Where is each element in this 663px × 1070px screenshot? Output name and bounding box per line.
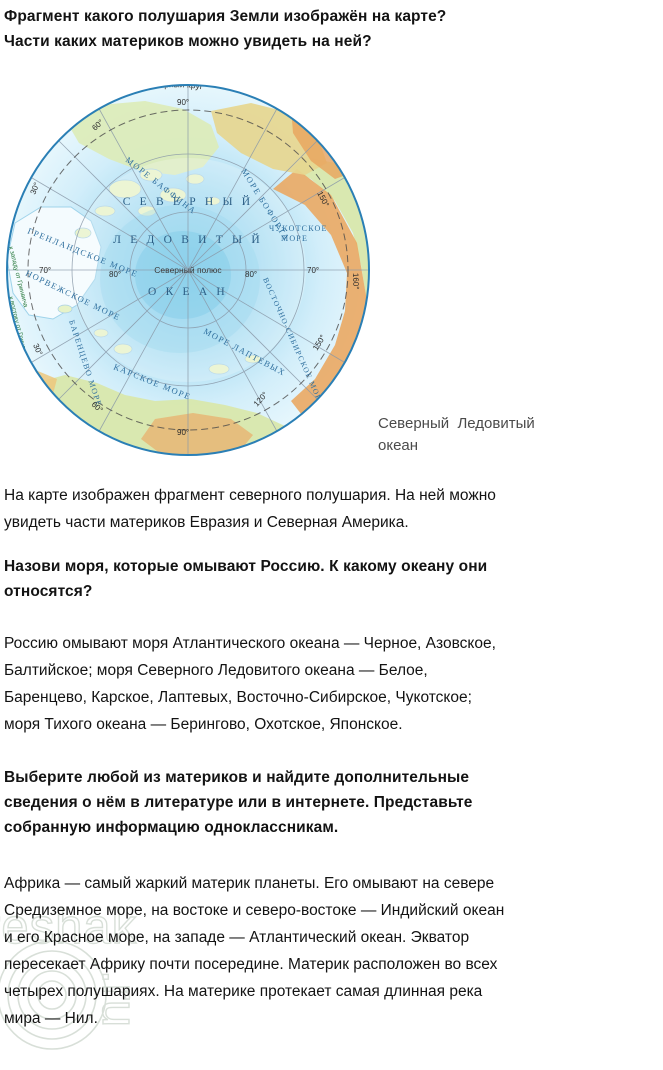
map-caption: Северный Ледовитый океан: [378, 413, 618, 457]
meridian-90-bottom: 90°: [177, 428, 189, 437]
ocean-name-line-3: О К Е А Н: [148, 286, 228, 298]
a1-line-1: На карте изображен фрагмент северного по…: [4, 482, 659, 509]
question-heading-3: Выберите любой из материков и найдите до…: [4, 765, 659, 840]
a3-line-2: Средиземное море, на востоке и северо-во…: [4, 897, 659, 924]
a3-line-6: мира — Нил.: [4, 1005, 659, 1032]
question-heading-1: Фрагмент какого полушария Земли изображё…: [4, 4, 659, 54]
a2-line-2: Балтийское; моря Северного Ледовитого ок…: [4, 657, 659, 684]
parallel-70-left: 70°: [39, 266, 51, 275]
land-scandinavia-highland: [5, 413, 45, 457]
a1-line-2: увидеть части материков Евразия и Северн…: [4, 509, 659, 536]
map-caption-line-2: океан: [378, 435, 618, 457]
question-heading-2: Назови моря, которые омывают Россию. К к…: [4, 554, 659, 604]
arctic-map-figure: МОРЕ БАФФИНА ГРЕНЛАНДСКОЕ МОРЕ НОРВЕЖСКО…: [5, 83, 371, 457]
q2-line-1: Назови моря, которые омывают Россию. К к…: [4, 554, 659, 579]
answer-paragraph-2: Россию омывают моря Атлантического океан…: [4, 630, 659, 738]
meridian-90-top: 90°: [177, 98, 189, 107]
parallel-70-right: 70°: [307, 266, 319, 275]
a2-line-4: моря Тихого океана — Берингово, Охотское…: [4, 711, 659, 738]
textbook-page: reshak .ru Фрагмент какого полушария Зем…: [0, 0, 663, 1060]
ocean-name-line-1: С Е В Е Р Н Ы Й: [123, 194, 254, 208]
q2-line-2: относятся?: [4, 579, 659, 604]
q3-line-3: собранную информацию одноклассникам.: [4, 815, 659, 840]
a3-line-5: четырех полушариях. На материке протекае…: [4, 978, 659, 1005]
answer-paragraph-3: Африка — самый жаркий материк планеты. Е…: [4, 870, 659, 1032]
q3-line-1: Выберите любой из материков и найдите до…: [4, 765, 659, 790]
q1-line-2: Части каких материков можно увидеть на н…: [4, 29, 659, 54]
map-caption-line-1: Северный Ледовитый: [378, 413, 618, 435]
a2-line-3: Баренцево, Карское, Лаптевых, Восточно-С…: [4, 684, 659, 711]
meridian-160-right: 160°: [351, 273, 361, 290]
q1-line-1: Фрагмент какого полушария Земли изображё…: [4, 4, 659, 29]
a2-line-1: Россию омывают моря Атлантического океан…: [4, 630, 659, 657]
parallel-80-left: 80°: [109, 270, 121, 279]
q3-line-2: сведения о нём в литературе или в интерн…: [4, 790, 659, 815]
north-pole-label: Северный полюс: [154, 265, 222, 275]
a3-line-3: и его Красное море, на западе — Атлантич…: [4, 924, 659, 951]
land-scandinavia: [5, 369, 57, 433]
parallel-80-right: 80°: [245, 270, 257, 279]
answer-paragraph-1: На карте изображен фрагмент северного по…: [4, 482, 659, 536]
a3-line-1: Африка — самый жаркий материк планеты. Е…: [4, 870, 659, 897]
ocean-name-line-2: Л Е Д О В И Т Ы Й: [113, 232, 263, 246]
a3-line-4: пересекает Африку почти посередине. Мате…: [4, 951, 659, 978]
